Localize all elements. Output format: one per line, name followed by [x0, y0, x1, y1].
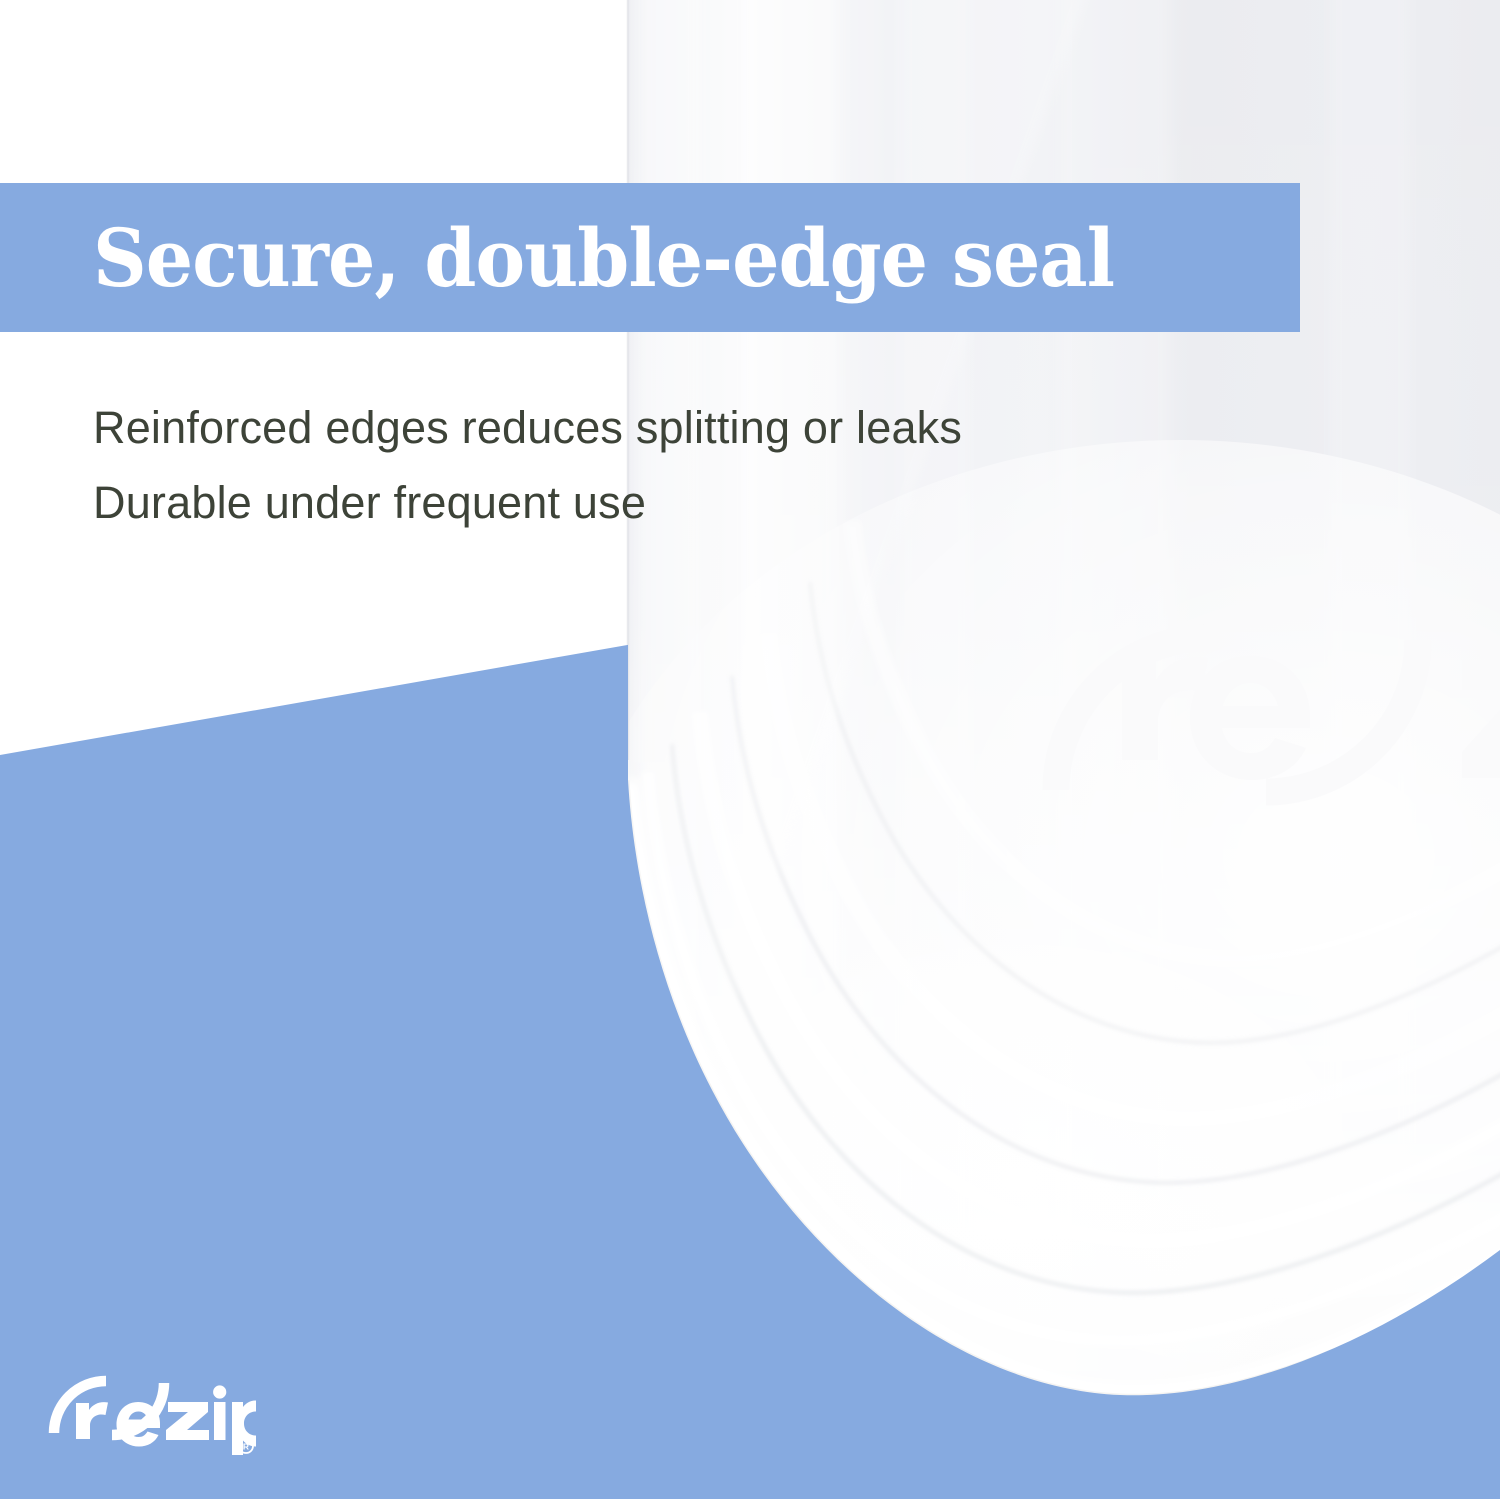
- product-feature-card: Secure, double-edge seal Reinforced edge…: [0, 0, 1500, 1499]
- rezip-logo-icon: R: [48, 1347, 258, 1455]
- feature-line-1: Reinforced edges reduces splitting or le…: [93, 390, 1213, 465]
- feature-line-2: Durable under frequent use: [93, 465, 1213, 540]
- brand-logo: R: [48, 1347, 258, 1455]
- svg-text:R: R: [243, 1441, 249, 1451]
- headline-banner: Secure, double-edge seal: [0, 183, 1300, 332]
- feature-description: Reinforced edges reduces splitting or le…: [93, 390, 1213, 540]
- page-title: Secure, double-edge seal: [93, 218, 1114, 298]
